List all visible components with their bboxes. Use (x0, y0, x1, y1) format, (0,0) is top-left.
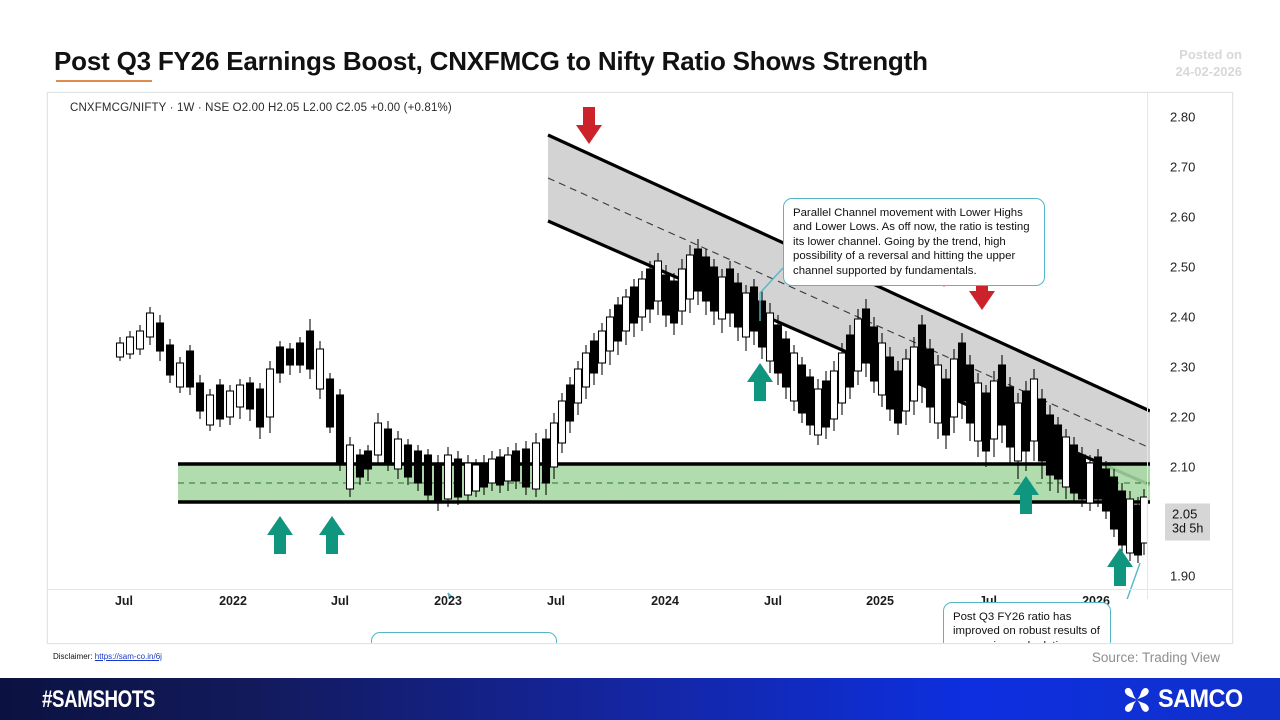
price-tick: 2.10 (1170, 460, 1195, 475)
candlestick-series (117, 239, 1148, 563)
price-tick: 2.60 (1170, 210, 1195, 225)
disclaimer-link[interactable]: https://sam-co.in/6j (95, 652, 162, 661)
samco-wordmark: SAMCO (1158, 685, 1243, 714)
price-tick: 1.90 (1170, 569, 1195, 584)
bottom-brand-bar: #SAMSHOTS SAMCO (0, 678, 1280, 720)
disclaimer: Disclaimer: https://sam-co.in/6j (53, 652, 162, 661)
time-tick: Jul (764, 594, 782, 608)
price-tick: 2.50 (1170, 260, 1195, 275)
time-tick: Jul (115, 594, 133, 608)
samco-pinwheel-icon (1122, 687, 1152, 713)
down-arrow-icon (576, 107, 602, 144)
screenshot-root: Post Q3 FY26 Earnings Boost, CNXFMCG to … (0, 0, 1280, 720)
samco-logo: SAMCO (1122, 685, 1248, 714)
current-price-value: 2.05 (1172, 507, 1203, 522)
price-tick: 2.70 (1170, 160, 1195, 175)
time-tick: 2022 (219, 594, 247, 608)
title-underline-accent (56, 80, 152, 82)
posted-on-block: Posted on 24-02-2026 (1176, 46, 1243, 80)
time-tick: 2024 (651, 594, 679, 608)
price-axis[interactable]: 2.80 2.70 2.60 2.50 2.40 2.30 2.20 2.10 … (1147, 93, 1232, 599)
callout-support-level: Support level of March 22 Lows (371, 632, 557, 644)
callout-parallel-channel: Parallel Channel movement with Lower Hig… (783, 198, 1045, 286)
current-price-badge[interactable]: 2.05 3d 5h (1165, 504, 1210, 541)
page-title: Post Q3 FY26 Earnings Boost, CNXFMCG to … (54, 46, 928, 77)
callout-q3-ratio: Post Q3 FY26 ratio has improved on robus… (943, 602, 1111, 644)
samshots-hashtag: #SAMSHOTS (42, 686, 155, 714)
bar-countdown: 3d 5h (1172, 522, 1203, 537)
time-tick: 2023 (434, 594, 462, 608)
support-zone-overlay (178, 464, 1150, 502)
source-credit: Source: Trading View (1092, 650, 1220, 665)
chart-plot-area[interactable] (48, 93, 1150, 599)
price-tick: 2.40 (1170, 310, 1195, 325)
time-tick: Jul (331, 594, 349, 608)
time-tick: 2025 (866, 594, 894, 608)
time-tick: Jul (547, 594, 565, 608)
posted-on-date: 24-02-2026 (1176, 63, 1243, 80)
up-arrow-icon (747, 363, 773, 401)
posted-on-label: Posted on (1176, 46, 1243, 63)
price-tick: 2.30 (1170, 360, 1195, 375)
price-tick: 2.80 (1170, 110, 1195, 125)
disclaimer-label: Disclaimer: (53, 652, 93, 661)
chart-svg (48, 93, 1150, 599)
up-arrow-icon (319, 516, 345, 554)
chart-panel: CNXFMCG/NIFTY · 1W · NSE O2.00 H2.05 L2.… (47, 92, 1233, 644)
up-arrow-icon (1107, 548, 1133, 586)
up-arrow-icon (267, 516, 293, 554)
price-tick: 2.20 (1170, 410, 1195, 425)
